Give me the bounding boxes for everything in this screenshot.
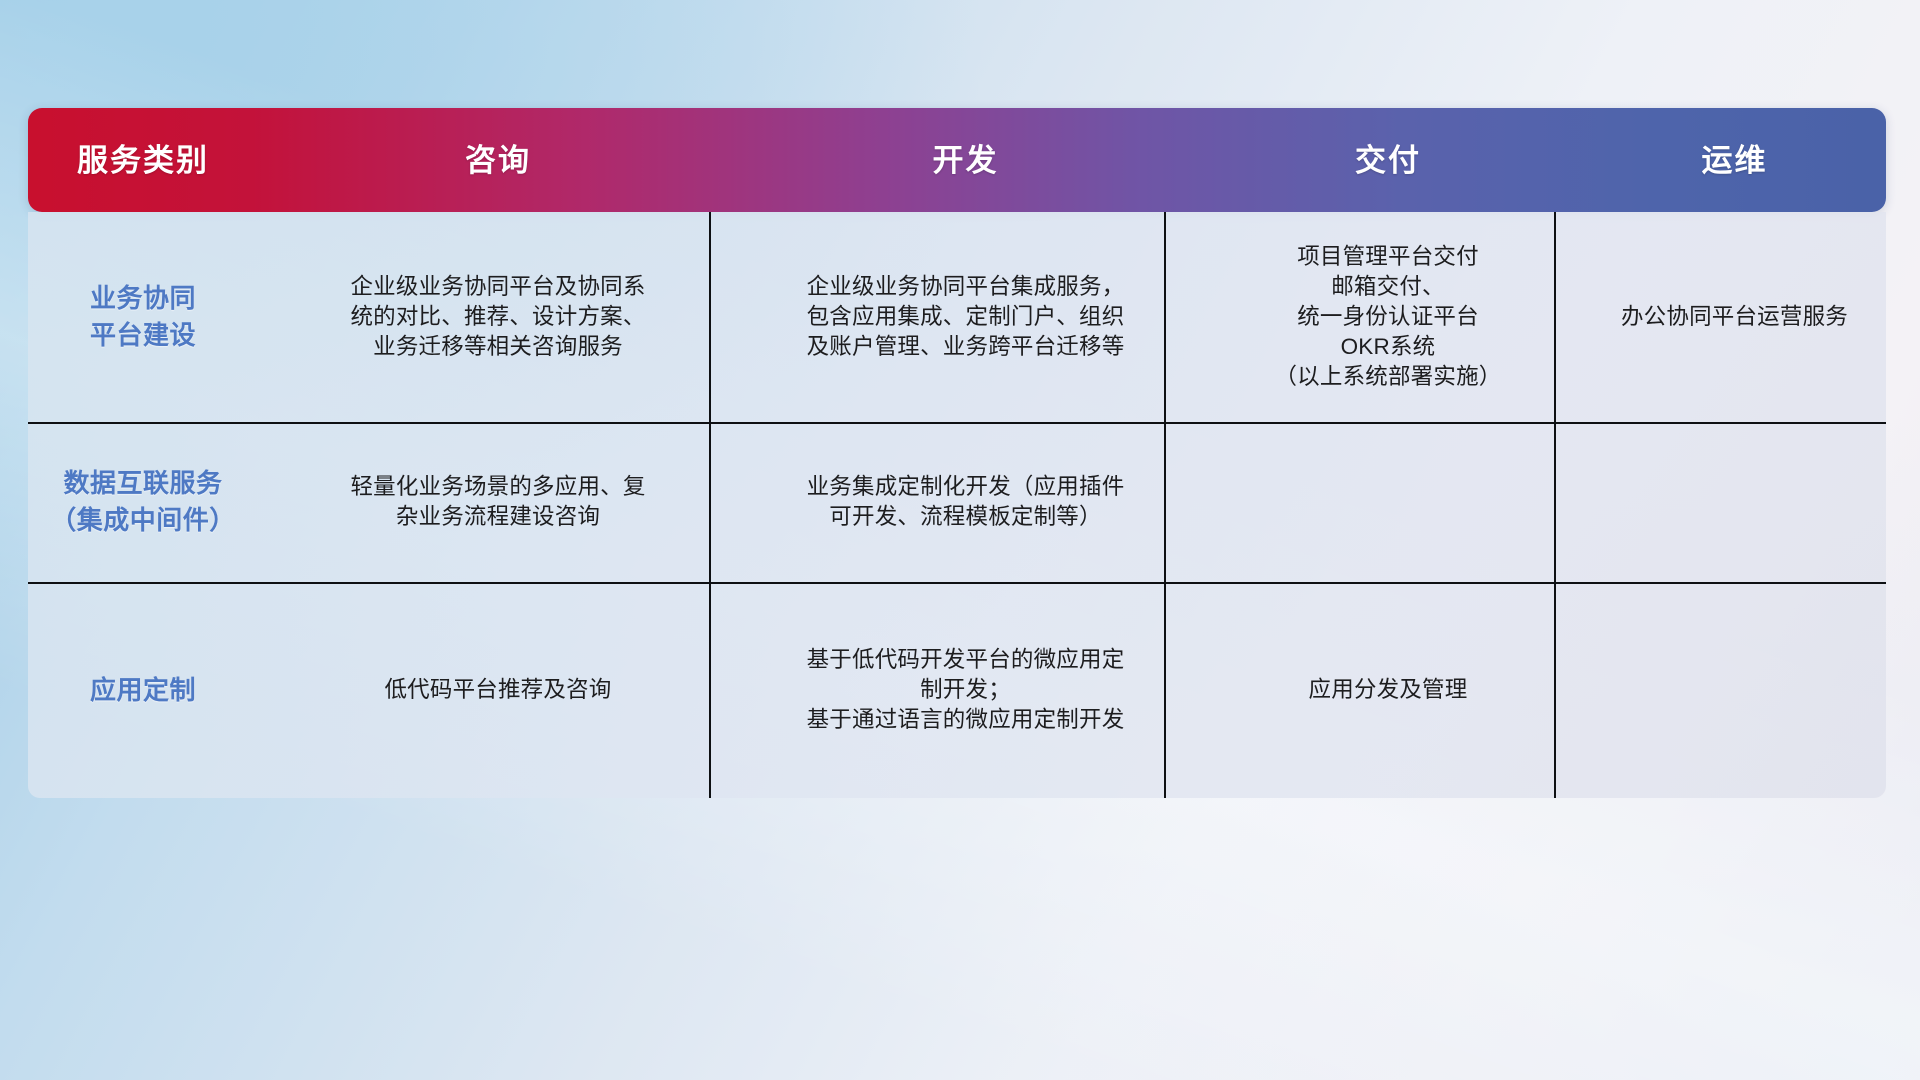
column-header-category: 服务类别 <box>28 145 258 176</box>
column-header-develop: 开发 <box>738 145 1193 176</box>
table-row: 数据互联服务 （集成中间件） 轻量化业务场景的多应用、复 杂业务流程建设咨询 业… <box>28 422 1886 582</box>
cell-r1-develop: 企业级业务协同平台集成服务， 包含应用集成、定制门户、组织 及账户管理、业务跨平… <box>807 272 1125 362</box>
table-header-row: 服务类别 咨询 开发 交付 运维 <box>28 108 1886 212</box>
grid-line-vertical-deliver-operate <box>1554 212 1556 798</box>
row-label-app-customization: 应用定制 <box>90 672 196 709</box>
grid-line-vertical-develop-deliver <box>1164 212 1166 798</box>
cell-r3-deliver: 应用分发及管理 <box>1309 675 1468 705</box>
cell-r1-deliver: 项目管理平台交付 邮箱交付、 统一身份认证平台 OKR系统 （以上系统部署实施） <box>1274 242 1501 393</box>
cell-r1-consult: 企业级业务协同平台及协同系 统的对比、推荐、设计方案、 业务迁移等相关咨询服务 <box>350 272 645 362</box>
column-header-consult: 咨询 <box>258 145 738 176</box>
table-row: 应用定制 低代码平台推荐及咨询 基于低代码开发平台的微应用定 制开发； 基于通过… <box>28 582 1886 798</box>
table-body: 业务协同 平台建设 企业级业务协同平台及协同系 统的对比、推荐、设计方案、 业务… <box>28 212 1886 798</box>
grid-line-horizontal-row2-row3 <box>28 582 1886 584</box>
cell-r2-develop: 业务集成定制化开发（应用插件 可开发、流程模板定制等） <box>807 472 1125 532</box>
grid-line-horizontal-row1-row2 <box>28 422 1886 424</box>
row-label-business-collaboration: 业务协同 平台建设 <box>90 280 196 354</box>
cell-r3-consult: 低代码平台推荐及咨询 <box>384 675 611 705</box>
table-row: 业务协同 平台建设 企业级业务协同平台及协同系 统的对比、推荐、设计方案、 业务… <box>28 212 1886 422</box>
column-header-deliver: 交付 <box>1193 145 1583 176</box>
cell-r1-operate: 办公协同平台运营服务 <box>1621 302 1848 332</box>
service-matrix-table: 服务类别 咨询 开发 交付 运维 业务协同 平台建设 企业级业务协同平台及协同系… <box>28 108 1886 798</box>
cell-r3-develop: 基于低代码开发平台的微应用定 制开发； 基于通过语言的微应用定制开发 <box>807 645 1125 735</box>
grid-line-vertical-consult-develop <box>709 212 711 798</box>
row-label-data-interconnect: 数据互联服务 （集成中间件） <box>50 465 236 539</box>
column-header-operate: 运维 <box>1583 145 1886 176</box>
cell-r2-consult: 轻量化业务场景的多应用、复 杂业务流程建设咨询 <box>350 472 645 532</box>
